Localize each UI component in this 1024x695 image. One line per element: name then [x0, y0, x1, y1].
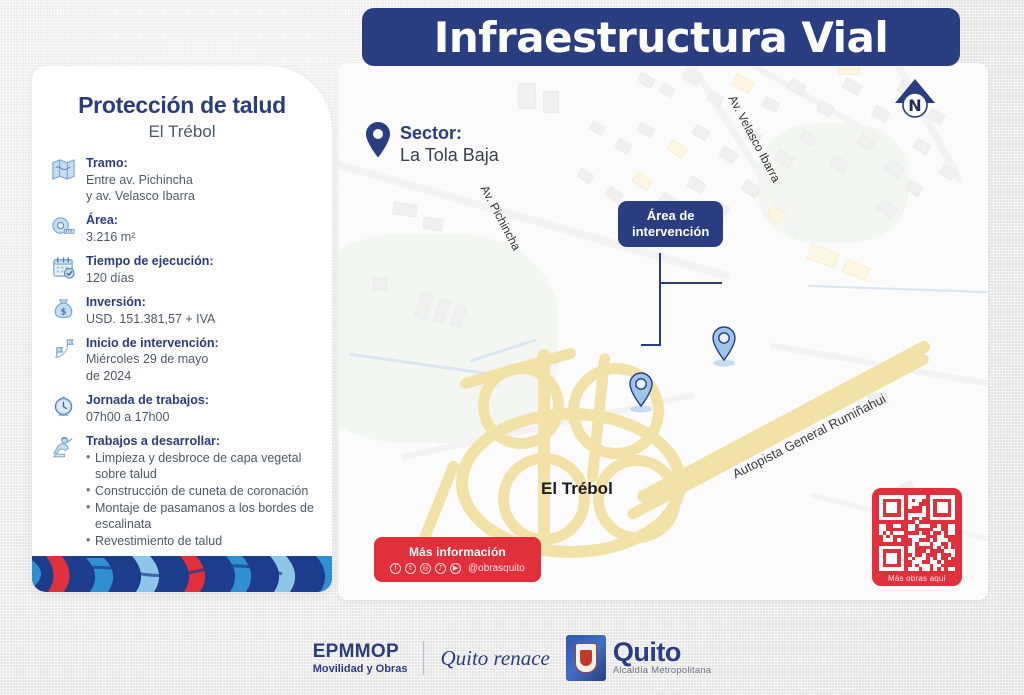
- works-item: Limpieza y desbroce de capa vegetal sobr…: [86, 450, 316, 482]
- youtube-icon[interactable]: ▶: [450, 563, 461, 574]
- facebook-icon[interactable]: f: [390, 563, 401, 574]
- qr-code-image: [879, 495, 955, 571]
- map-panel[interactable]: Av. Pichincha Av. Velasco Ibarra Autopis…: [338, 63, 988, 600]
- works-bullet-list: Limpieza y desbroce de capa vegetal sobr…: [86, 450, 316, 549]
- page-title: Infraestructura Vial: [434, 13, 888, 62]
- map-building: [543, 91, 559, 113]
- worker-icon: [50, 434, 77, 461]
- compass-north-icon: N: [888, 75, 942, 134]
- field-list: Tramo: Entre av. Pichincha y av. Velasco…: [50, 156, 316, 550]
- field-label: Tiempo de ejecución:: [86, 254, 316, 270]
- map-ramp: [538, 349, 550, 539]
- map-building: [422, 217, 443, 232]
- field-tiempo-ejecucion: Tiempo de ejecución: 120 días: [50, 254, 316, 286]
- milestone-flags-icon: [50, 336, 77, 363]
- social-links-row[interactable]: f t ◎ ♪ ▶ @obrasquito: [390, 563, 525, 574]
- field-tramo: Tramo: Entre av. Pichincha y av. Velasco…: [50, 156, 316, 204]
- field-value: Miércoles 29 de mayo de 2024: [86, 351, 316, 384]
- works-item: Construcción de cuneta de coronación: [86, 483, 316, 499]
- sector-label: Sector:: [400, 123, 499, 144]
- money-bag-icon: $: [50, 295, 77, 322]
- header-bar: Infraestructura Vial: [362, 8, 960, 66]
- footer-divider: [423, 641, 424, 675]
- map-green-area: [758, 123, 908, 243]
- callout-stem: [659, 253, 661, 346]
- info-card: Protección de talud El Trébol Tramo: Ent…: [32, 66, 332, 592]
- footer: EPMMOP Movilidad y Obras Quito renace Qu…: [0, 635, 1024, 681]
- twitter-icon[interactable]: t: [405, 563, 416, 574]
- field-label: Tramo:: [86, 156, 316, 172]
- mas-informacion-label: Más información: [390, 545, 525, 559]
- quito-renace-slogan: Quito renace: [440, 646, 549, 671]
- social-handle: @obrasquito: [468, 563, 525, 574]
- compass-letter: N: [908, 96, 921, 115]
- field-jornada-trabajos: Jornada de trabajos: 07h00 a 17h00: [50, 393, 316, 425]
- field-label: Inversión:: [86, 295, 316, 311]
- mas-informacion-chip[interactable]: Más información f t ◎ ♪ ▶ @obrasquito: [374, 537, 541, 582]
- map-building: [518, 83, 536, 109]
- callout-arm-lower: [641, 344, 661, 346]
- field-inversion: $ Inversión: USD. 151.381,57 + IVA: [50, 295, 316, 327]
- quito-wordmark: Quito: [613, 640, 711, 666]
- map-icon: [50, 156, 77, 183]
- calendar-check-icon: [50, 254, 77, 281]
- field-trabajos-desarrollar: Trabajos a desarrollar: Limpieza y desbr…: [50, 434, 316, 551]
- card-title: Protección de talud: [50, 92, 314, 119]
- alcaldia-label: Alcaldía Metropolitana: [613, 665, 711, 676]
- svg-text:$: $: [60, 307, 66, 317]
- coat-of-arms-icon: [566, 635, 606, 681]
- tiktok-icon[interactable]: ♪: [435, 563, 446, 574]
- instagram-icon[interactable]: ◎: [420, 563, 431, 574]
- field-label: Trabajos a desarrollar:: [86, 434, 316, 450]
- field-label: Área:: [86, 213, 316, 229]
- field-area: Área: 3.216 m²: [50, 213, 316, 245]
- intervention-pin-lower[interactable]: [625, 371, 657, 418]
- card-subtitle: El Trébol: [32, 122, 332, 142]
- intervention-pin-upper[interactable]: [708, 325, 740, 372]
- area-intervencion-callout: Área de intervención: [618, 201, 723, 247]
- map-label-trebol: El Trébol: [541, 479, 613, 499]
- location-pin-icon: [364, 121, 392, 159]
- clock-icon: [50, 393, 77, 420]
- field-value: Entre av. Pichincha y av. Velasco Ibarra: [86, 172, 316, 205]
- qr-code-box[interactable]: Más obras aquí: [872, 488, 962, 586]
- quito-logo: Quito Alcaldía Metropolitana: [566, 635, 711, 681]
- measuring-tape-icon: [50, 213, 77, 240]
- epmmop-tagline: Movilidad y Obras: [313, 663, 408, 675]
- epmmop-name: EPMMOP: [313, 642, 408, 661]
- callout-line-2: intervención: [632, 224, 709, 240]
- epmmop-logo: EPMMOP Movilidad y Obras: [313, 642, 408, 675]
- sector-value: La Tola Baja: [400, 145, 499, 166]
- callout-arm-upper: [659, 282, 722, 284]
- callout-line-1: Área de: [632, 208, 709, 224]
- works-item: Revestimiento de talud: [86, 533, 316, 549]
- field-value: 120 días: [86, 270, 316, 286]
- qr-code-caption: Más obras aquí: [879, 574, 955, 583]
- map-building: [373, 278, 387, 290]
- field-label: Inicio de intervención:: [86, 336, 316, 352]
- decorative-band: [32, 556, 332, 592]
- field-value: 07h00 a 17h00: [86, 409, 316, 425]
- field-label: Jornada de trabajos:: [86, 393, 316, 409]
- works-item: Montaje de pasamanos a los bordes de esc…: [86, 500, 316, 532]
- field-inicio-intervencion: Inicio de intervención: Miércoles 29 de …: [50, 336, 316, 384]
- field-value: 3.216 m²: [86, 229, 316, 245]
- sector-block: Sector: La Tola Baja: [364, 121, 499, 166]
- field-value: USD. 151.381,57 + IVA: [86, 311, 316, 327]
